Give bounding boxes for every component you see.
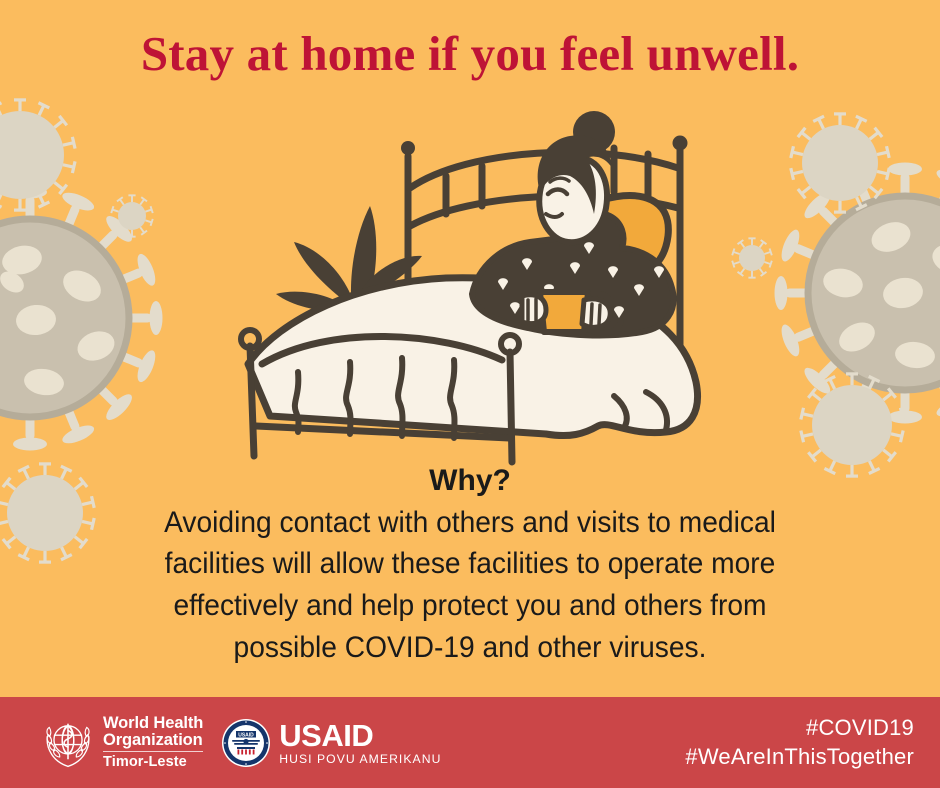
footer-bar: World Health Organization Timor-Leste US… xyxy=(0,697,940,788)
why-line: Avoiding contact with others and visits … xyxy=(88,502,852,544)
who-divider xyxy=(103,751,203,752)
who-country: Timor-Leste xyxy=(103,755,203,770)
usaid-title: USAID xyxy=(279,720,441,751)
poster-canvas: Stay at home if you feel unwell. xyxy=(0,0,940,788)
who-line-1: World Health xyxy=(103,715,203,732)
who-logo-lockup: World Health Organization Timor-Leste xyxy=(42,715,203,770)
why-line: facilities will allow these facilities t… xyxy=(88,543,852,585)
usaid-seal-icon: USAID xyxy=(221,718,271,768)
virus-particle-small xyxy=(789,112,891,213)
who-line-2: Organization xyxy=(103,732,203,749)
virus-particle-large-left xyxy=(0,186,163,451)
who-wordmark: World Health Organization Timor-Leste xyxy=(103,715,203,770)
hashtag-group: #COVID19 #WeAreInThisTogether xyxy=(685,697,914,788)
usaid-tagline: HUSI POVU AMERIKANU xyxy=(279,753,441,765)
usaid-logo-lockup: USAID xyxy=(221,718,441,768)
why-paragraph: Avoiding contact with others and visits … xyxy=(88,502,852,670)
virus-particle-small xyxy=(0,98,77,211)
who-emblem-icon xyxy=(42,717,94,769)
footer-logo-group: World Health Organization Timor-Leste US… xyxy=(42,697,441,788)
svg-text:USAID: USAID xyxy=(238,732,254,738)
why-section: Why? Avoiding contact with others and vi… xyxy=(70,462,870,669)
hashtag-wearinthistogether: #WeAreInThisTogether xyxy=(685,743,914,772)
why-label: Why? xyxy=(70,462,870,500)
virus-particle-tiny xyxy=(110,194,153,237)
illustration-woman-in-bed xyxy=(210,96,730,468)
why-line: effectively and help protect you and oth… xyxy=(88,585,852,627)
virus-particle-large-right xyxy=(775,163,940,424)
virus-particle-tiny xyxy=(731,237,772,278)
page-title: Stay at home if you feel unwell. xyxy=(0,28,940,79)
usaid-wordmark: USAID HUSI POVU AMERIKANU xyxy=(279,720,441,765)
hashtag-covid19: #COVID19 xyxy=(806,714,914,743)
why-line: possible COVID-19 and other viruses. xyxy=(88,627,852,669)
